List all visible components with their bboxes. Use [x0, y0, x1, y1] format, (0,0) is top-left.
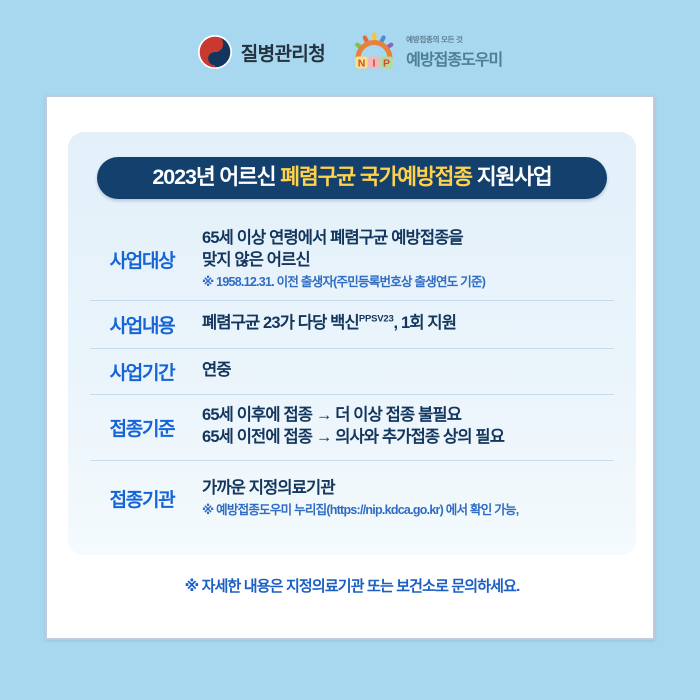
row-body-target: 65세 이상 연령에서 폐렴구균 예방접종을 맞지 않은 어르신 ※ 1958.…: [198, 228, 620, 291]
page-title: 2023년 어르신 폐렴구균 국가예방접종 지원사업: [152, 167, 551, 189]
svg-text:N: N: [358, 57, 366, 69]
row-label-target: 사업대상: [86, 246, 198, 273]
nip-tagline: 예방접종의 모든 것: [406, 34, 502, 45]
vaccine-superscript: PPSV23: [359, 314, 394, 325]
taegeuk-icon: [198, 35, 232, 69]
row-body-content: 폐렴구균 23가 다당 백신PPSV23, 1회 지원: [198, 313, 620, 335]
info-rows: 사업대상 65세 이상 연령에서 폐렴구균 예방접종을 맞지 않은 어르신 ※ …: [68, 218, 636, 536]
row-label-facility: 접종기관: [86, 485, 198, 512]
row-main-content: 폐렴구균 23가 다당 백신PPSV23, 1회 지원: [202, 313, 620, 335]
row-body-criteria: 65세 이후에 접종 → 더 이상 접종 불필요 65세 이전에 접종 → 의사…: [198, 405, 620, 449]
nip-logo: N I P 예방접종의 모든 것 예방접종도우미: [351, 32, 502, 72]
title-banner: 2023년 어르신 폐렴구균 국가예방접종 지원사업: [97, 157, 607, 199]
svg-text:P: P: [383, 57, 390, 69]
row-label-criteria: 접종기준: [86, 414, 198, 441]
row-content: 사업내용 폐렴구균 23가 다당 백신PPSV23, 1회 지원: [68, 300, 636, 348]
row-main-line: 65세 이후에 접종 → 더 이상 접종 불필요: [202, 405, 620, 427]
svg-text:I: I: [373, 57, 376, 69]
nip-title: 예방접종도우미: [406, 46, 502, 70]
row-main-facility: 가까운 지정의료기관: [202, 478, 620, 500]
info-card: 2023년 어르신 폐렴구균 국가예방접종 지원사업 사업대상 65세 이상 연…: [45, 95, 655, 640]
row-main-period: 연중: [202, 360, 620, 382]
row-main-line: 65세 이상 연령에서 폐렴구균 예방접종을: [202, 228, 620, 250]
row-body-facility: 가까운 지정의료기관 ※ 예방접종도우미 누리집(https://nip.kdc…: [198, 478, 620, 519]
row-main-line: 맞지 않은 어르신: [202, 250, 620, 272]
nip-text-block: 예방접종의 모든 것 예방접종도우미: [406, 34, 502, 70]
header-logo-bar: 질병관리청 N I P 예방접종의 모든 것 예방접종도우미: [0, 24, 700, 80]
row-label-period: 사업기간: [86, 358, 198, 385]
row-target: 사업대상 65세 이상 연령에서 폐렴구균 예방접종을 맞지 않은 어르신 ※ …: [68, 218, 636, 300]
nip-sunrise-icon: N I P: [351, 32, 397, 72]
footer-note: ※ 자세한 내용은 지정의료기관 또는 보건소로 문의하세요.: [47, 575, 657, 596]
info-panel: 2023년 어르신 폐렴구균 국가예방접종 지원사업 사업대상 65세 이상 연…: [68, 132, 636, 555]
title-prefix: 2023년 어르신: [152, 165, 280, 189]
title-highlight: 폐렴구균 국가예방접종: [280, 165, 472, 189]
row-criteria: 접종기준 65세 이후에 접종 → 더 이상 접종 불필요 65세 이전에 접종…: [68, 394, 636, 460]
kdca-logo: 질병관리청: [198, 35, 325, 69]
kdca-wordmark: 질병관리청: [241, 39, 325, 66]
row-period: 사업기간 연중: [68, 348, 636, 394]
row-facility: 접종기관 가까운 지정의료기관 ※ 예방접종도우미 누리집(https://ni…: [68, 460, 636, 536]
row-note-facility: ※ 예방접종도우미 누리집(https://nip.kdca.go.kr) 에서…: [202, 503, 620, 519]
row-note-target: ※ 1958.12.31. 이전 출생자(주민등록번호상 출생연도 기준): [202, 275, 620, 291]
dose-info: , 1회 지원: [394, 314, 457, 332]
vaccine-name: 폐렴구균 23가 다당 백신: [202, 314, 359, 332]
row-body-period: 연중: [198, 360, 620, 382]
row-label-content: 사업내용: [86, 311, 198, 338]
title-suffix: 지원사업: [472, 165, 552, 189]
row-main-line: 65세 이전에 접종 → 의사와 추가접종 상의 필요: [202, 427, 620, 449]
